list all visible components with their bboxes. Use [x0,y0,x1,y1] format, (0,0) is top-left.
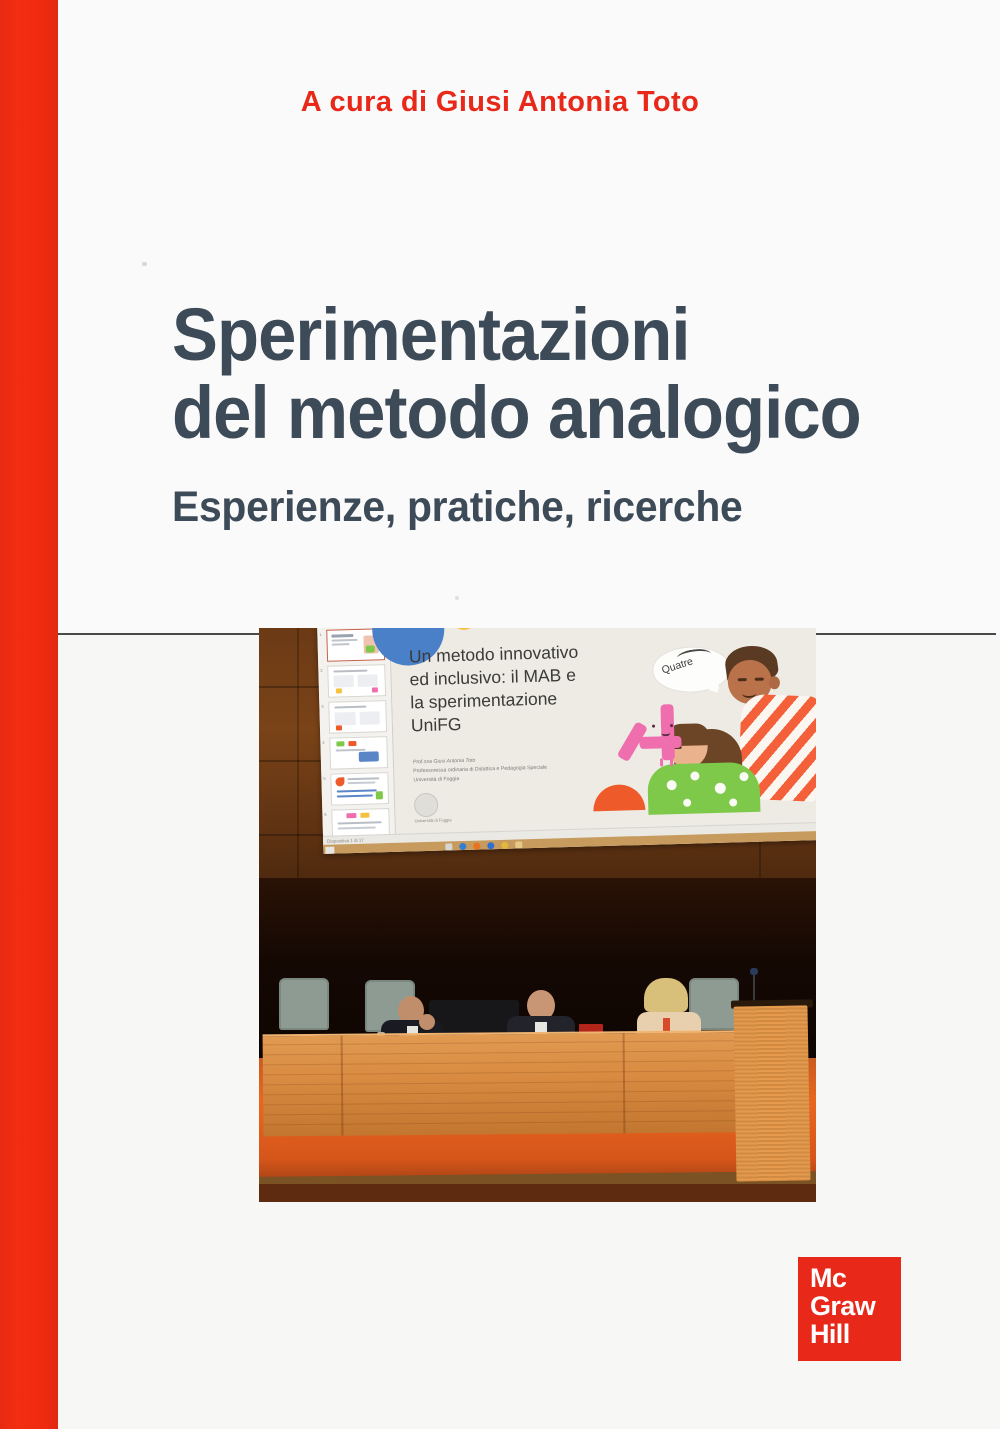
book-cover: A cura di Giusi Antonia Toto Sperimentaz… [0,0,1000,1429]
slide-illustration: Quatre [640,630,816,815]
active-slide: Un metodo innovativo ed inclusivo: il MA… [390,628,816,852]
four-leg [670,758,673,766]
edge-icon[interactable] [459,843,466,850]
print-speck [142,262,147,266]
spine-bar [0,0,58,1429]
thumbnail-number: 2 [320,668,322,673]
slide-yellow-dot [452,628,477,630]
boy-ear [769,676,780,689]
number-four-character [636,704,690,761]
four-horizontal [639,736,681,749]
explorer-icon[interactable] [445,843,452,850]
slide-thumbnail [328,700,387,734]
slide-thumbnail [329,736,388,770]
cover-photograph: 1 2 3 [259,628,816,1202]
page-title: Sperimentazioni del metodo analogico [172,296,907,451]
microphone-stem [753,972,755,1002]
slide-title: Un metodo innovativo ed inclusivo: il MA… [409,639,641,738]
slide-orange-semicircle [593,784,646,811]
four-leg [660,758,663,766]
speaker-hair [644,978,688,1012]
university-logo-caption: Università di Foggia [415,817,452,823]
office-icon[interactable] [473,843,480,850]
speaker-hand [419,1014,435,1030]
thumbnail-number: 1 [319,632,321,637]
chair [279,978,329,1030]
print-speck-lower [455,596,459,600]
editor-credit: A cura di Giusi Antonia Toto [0,86,1000,119]
projection-screen: 1 2 3 [317,628,816,854]
boy-eye [738,678,747,681]
wall-vertical-seam [297,628,299,918]
publisher-logo-text: Mc Graw Hill [810,1264,875,1348]
spine-bar-shading [0,0,58,1429]
logo-line-1: Mc [810,1264,875,1292]
podium [733,1005,810,1181]
thumbnail-number: 5 [323,776,325,781]
four-eye [670,724,673,727]
microphone-icon [750,968,758,975]
logo-line-2: Graw [810,1292,875,1320]
title-line-2: del metodo analogico [172,374,907,452]
university-logo-icon [414,793,439,818]
zoom-icon[interactable] [487,842,494,849]
thumbnail-number: 4 [322,740,324,745]
publisher-logo: Mc Graw Hill [798,1257,901,1361]
four-eye [652,725,655,728]
folder-icon[interactable] [515,841,522,848]
thumbnail-number: 6 [324,812,326,817]
boy-eye [755,678,764,681]
page-subtitle: Esperienze, pratiche, ricerche [172,483,923,532]
stage-front-shadow [259,1184,816,1202]
slide-author-block: Prof.ssa Giusi Antonia Toto Professoress… [413,753,599,785]
slide-thumbnail [330,772,389,806]
slide-counter: Diapositiva 1 di 17 [327,838,364,844]
start-button-icon[interactable] [325,846,334,854]
slide-thumbnail-pane: 1 2 3 [317,628,396,854]
slide-thumbnail [327,664,386,698]
thumbnail-number: 3 [321,704,323,709]
logo-line-3: Hill [810,1320,875,1348]
girl-polkadot-top [647,762,760,815]
chrome-icon[interactable] [501,842,508,849]
panel-desk [263,1030,804,1137]
title-line-1: Sperimentazioni [172,293,690,376]
